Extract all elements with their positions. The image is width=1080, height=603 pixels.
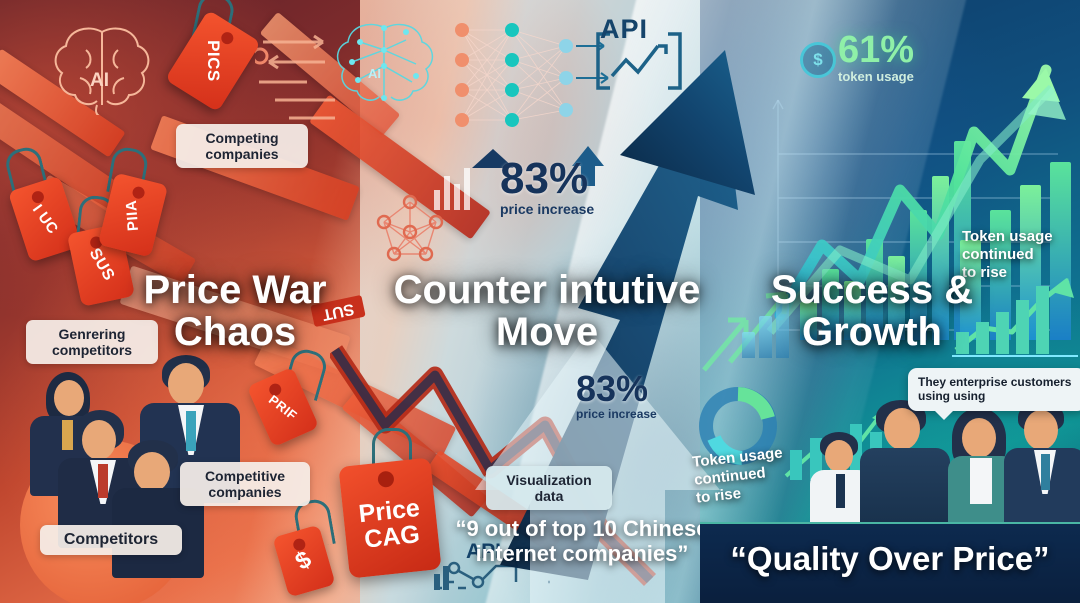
ai-network-label: AI <box>368 66 381 81</box>
label-token-usage-rise-bottom: Token usagecontinuedto rise <box>691 442 806 507</box>
speech-bubble-enterprise-customers: They enterprise customers using using <box>908 368 1080 411</box>
stat-value: 83% <box>576 372 657 406</box>
stat-token-usage: 61% token usage <box>838 32 914 84</box>
chip-visualization-data: Visualization data <box>486 466 612 510</box>
stat-caption: price increase <box>576 407 657 421</box>
stat-price-increase-top: 83% price increase <box>500 158 594 217</box>
chip-competitive-companies: Competitive companies <box>180 462 310 506</box>
chip-competing-companies: Competing companies <box>176 124 308 168</box>
stat-caption: price increase <box>500 201 594 217</box>
headline-price-war-chaos: Price War Chaos <box>120 270 350 353</box>
stat-price-increase-bottom: 83% price increase <box>576 372 657 421</box>
headline-counterintuitive-move: Counter intutive Move <box>392 270 702 353</box>
headline-success-growth: Success & Growth <box>752 270 992 353</box>
quote-chinese-internet-companies: “9 out of top 10 Chinese internet compan… <box>452 516 712 567</box>
banner-quality-over-price-text: “Quality Over Price” <box>700 540 1080 578</box>
ai-network-brain-icon: AI <box>330 18 440 113</box>
stat-caption: token usage <box>838 69 914 84</box>
ai-brain-label: AI <box>90 70 109 91</box>
infographic-canvas: AI PICS I UC SUS PIIA PRIF <box>0 0 1080 603</box>
dollar-coin-icon: $ <box>800 42 836 78</box>
stat-value: 61% <box>838 32 914 68</box>
chip-competitors: Competitors <box>40 525 182 555</box>
stat-value: 83% <box>500 158 594 200</box>
ai-brain-icon: AI <box>42 20 162 115</box>
price-cag-tag: Price CAG <box>338 457 441 578</box>
